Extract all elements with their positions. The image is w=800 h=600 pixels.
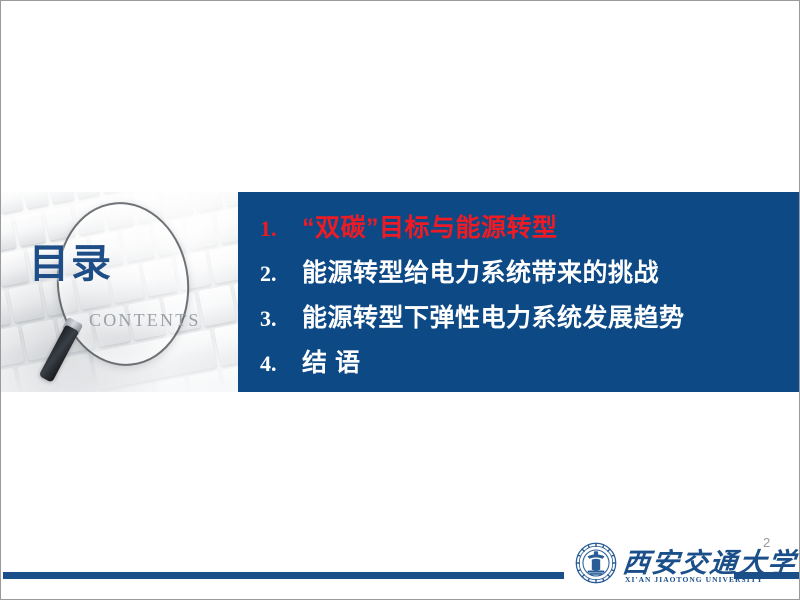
agenda-panel: 1.“双碳”目标与能源转型2.能源转型给电力系统带来的挑战3.能源转型下弹性电力…	[238, 192, 800, 392]
contents-title-cn: 目录	[29, 244, 113, 284]
agenda-item-1[interactable]: 1.“双碳”目标与能源转型	[260, 206, 800, 251]
agenda-item-3[interactable]: 3.能源转型下弹性电力系统发展趋势	[260, 296, 800, 341]
magnifier-icon	[57, 202, 189, 378]
presentation-slide: 目录 CONTENTS 1.“双碳”目标与能源转型2.能源转型给电力系统带来的挑…	[0, 0, 800, 600]
agenda-list: 1.“双碳”目标与能源转型2.能源转型给电力系统带来的挑战3.能源转型下弹性电力…	[260, 206, 800, 386]
university-logo: 西安交通大学 XI'AN JIAOTONG UNIVERSITY	[569, 540, 769, 588]
agenda-item-label: 能源转型给电力系统带来的挑战	[302, 251, 659, 296]
agenda-item-number: 4.	[260, 341, 302, 386]
agenda-item-label: 能源转型下弹性电力系统发展趋势	[302, 296, 685, 341]
agenda-item-number: 1.	[260, 206, 302, 251]
contents-title-en: CONTENTS	[89, 310, 201, 331]
agenda-item-4[interactable]: 4.结 语	[260, 341, 800, 386]
agenda-item-number: 3.	[260, 296, 302, 341]
agenda-item-2[interactable]: 2.能源转型给电力系统带来的挑战	[260, 251, 800, 296]
university-name-en: XI'AN JIAOTONG UNIVERSITY	[625, 575, 763, 584]
contents-photo-block: 目录 CONTENTS	[1, 192, 240, 392]
footer-bar-left	[3, 572, 564, 579]
university-seal-icon	[575, 542, 617, 584]
agenda-item-label: 结 语	[302, 341, 360, 386]
agenda-item-number: 2.	[260, 251, 302, 296]
agenda-item-label: “双碳”目标与能源转型	[302, 206, 558, 251]
